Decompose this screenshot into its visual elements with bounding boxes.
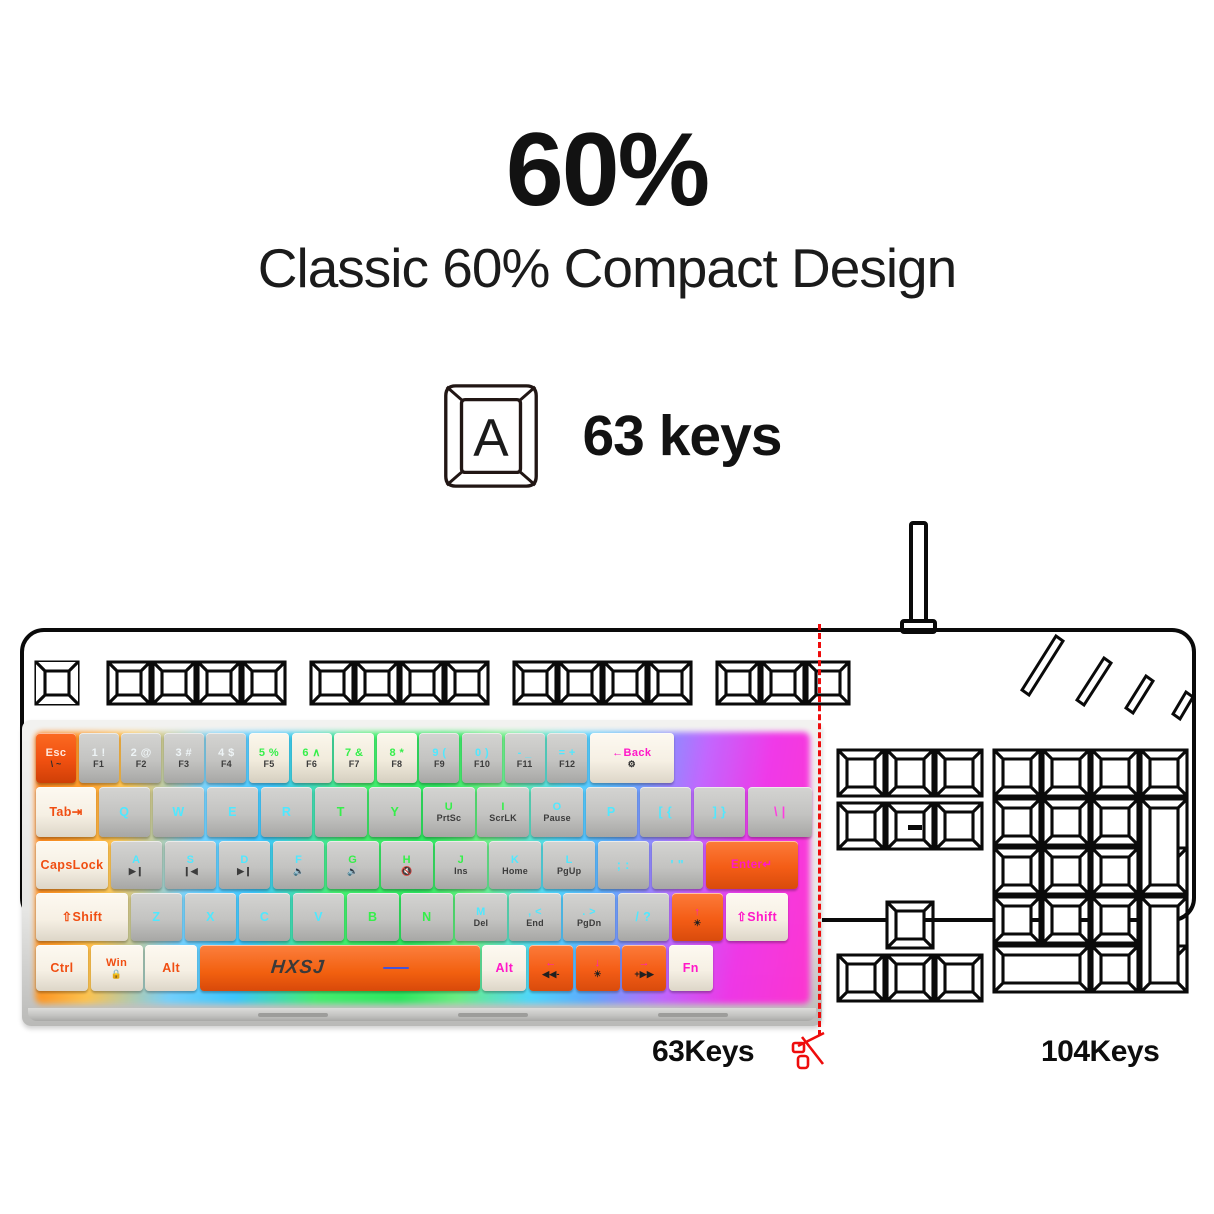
keycap-a-icon: A xyxy=(432,378,550,494)
key-shift-right[interactable]: ⇧Shift xyxy=(726,893,788,941)
outline-key xyxy=(311,662,353,704)
key-alt-right[interactable]: Alt xyxy=(482,945,526,991)
numpad-minus-glyph xyxy=(908,825,922,830)
key-4[interactable]: 4 $F4 xyxy=(206,733,246,783)
key-1[interactable]: 1 !F1 xyxy=(79,733,119,783)
key-legend-primary: ] } xyxy=(713,805,727,819)
outline-key xyxy=(807,662,849,704)
key-legend-primary: Win xyxy=(106,957,127,969)
key-comma[interactable]: , <End xyxy=(509,893,561,941)
key-legend-primary: 5 % xyxy=(259,747,279,759)
key-legend-primary: 7 & xyxy=(345,747,363,759)
key-backspace[interactable]: ←Back⚙ xyxy=(590,733,674,783)
key-legend-secondary: Ins xyxy=(454,866,468,876)
key-legend-primary: ' " xyxy=(671,858,685,872)
key-tab[interactable]: Tab⇥ xyxy=(36,787,96,837)
key-legend-secondary: Del xyxy=(474,918,489,928)
outline-key xyxy=(604,662,646,704)
key-0[interactable]: 0 )F10 xyxy=(462,733,502,783)
outline-key xyxy=(887,902,933,948)
outline-key xyxy=(994,848,1040,894)
key-o[interactable]: OPause xyxy=(531,787,583,837)
key-legend-secondary: F11 xyxy=(517,759,533,769)
key-esc[interactable]: Esc\ ~ xyxy=(36,733,76,783)
outline-key xyxy=(1043,848,1089,894)
key-legend-secondary: PgUp xyxy=(557,866,581,876)
outline-key xyxy=(838,803,884,849)
outline-key xyxy=(1092,848,1138,894)
key-legend-secondary: ☀ xyxy=(593,969,601,979)
key-legend-secondary: 🔇 xyxy=(401,866,412,876)
key-minus[interactable]: - _F11 xyxy=(505,733,545,783)
key-legend-primary: → xyxy=(638,957,649,969)
key-legend-primary: ← xyxy=(545,957,556,969)
key-legend-primary: J xyxy=(458,854,465,866)
keyboard-front-lip xyxy=(28,1008,816,1021)
key-legend-secondary: PgDn xyxy=(577,918,601,928)
key-y[interactable]: Y xyxy=(369,787,421,837)
key-legend-primary: C xyxy=(260,910,269,924)
outline-key xyxy=(649,662,691,704)
key-alt-left[interactable]: Alt xyxy=(145,945,197,991)
key-legend-primary: 3 # xyxy=(176,747,193,759)
key-legend-secondary: +▶▶ xyxy=(634,969,654,979)
key-legend-primary: H xyxy=(403,854,411,866)
key-t[interactable]: T xyxy=(315,787,367,837)
key-legend-secondary: ▶❙ xyxy=(237,866,252,876)
outline-key xyxy=(1043,750,1089,796)
key-legend-secondary: F9 xyxy=(434,759,445,769)
key-legend-primary: D xyxy=(240,854,248,866)
key-arrow-down[interactable]: ↓☀ xyxy=(576,945,620,991)
key-legend-secondary: F3 xyxy=(178,759,189,769)
key-v[interactable]: V xyxy=(293,893,345,941)
key-legend-secondary: ▶❙ xyxy=(129,866,144,876)
key-fn[interactable]: Fn xyxy=(669,945,713,991)
key-w[interactable]: W xyxy=(153,787,205,837)
outline-key xyxy=(559,662,601,704)
key-legend-secondary: F2 xyxy=(136,759,147,769)
key-legend-secondary: F5 xyxy=(264,759,275,769)
outline-key xyxy=(838,955,884,1001)
key-legend-secondary: F1 xyxy=(93,759,104,769)
outline-key xyxy=(356,662,398,704)
key-space[interactable]: HXSJ xyxy=(200,945,480,991)
key-legend-primary: 9 ( xyxy=(432,747,446,759)
key-d[interactable]: D▶❙ xyxy=(219,841,271,889)
key-legend-primary: Tab⇥ xyxy=(49,805,82,819)
key-legend-primary: Enter↵ xyxy=(731,859,772,872)
key-legend-secondary: 🔉 xyxy=(293,866,304,876)
key-legend-primary: V xyxy=(314,910,323,924)
key-legend-primary: B xyxy=(368,910,377,924)
key-capslock[interactable]: CapsLock xyxy=(36,841,108,889)
key-legend-primary: G xyxy=(348,854,357,866)
key-legend-primary: U xyxy=(445,801,453,813)
key-legend-primary: S xyxy=(187,854,195,866)
key-legend-primary: E xyxy=(228,805,237,819)
key-legend-primary: X xyxy=(206,910,215,924)
key-b[interactable]: B xyxy=(347,893,399,941)
key-p[interactable]: P xyxy=(586,787,638,837)
key-legend-primary: Q xyxy=(119,805,129,819)
key-legend-primary: Alt xyxy=(495,961,513,975)
key-legend-secondary: \ ~ xyxy=(51,759,62,769)
label-63-keys: 63Keys xyxy=(652,1035,754,1069)
key-f[interactable]: F🔉 xyxy=(273,841,325,889)
key-legend-primary: ⇧Shift xyxy=(62,910,103,924)
key-field: Esc\ ~1 !F12 @F23 #F34 $F45 %F56 ∧F67 &F… xyxy=(36,733,809,1001)
spacebar-dash xyxy=(383,967,409,970)
outline-key xyxy=(994,799,1040,845)
key-legend-primary: P xyxy=(607,805,616,819)
outline-key xyxy=(936,803,982,849)
key-count-badge: A 63 keys xyxy=(0,378,1214,494)
key-legend-primary: I xyxy=(501,801,504,813)
key-7[interactable]: 7 &F7 xyxy=(334,733,374,783)
keycap-letter: A xyxy=(474,409,510,468)
key-6[interactable]: 6 ∧F6 xyxy=(292,733,332,783)
key-legend-primary: F xyxy=(295,854,302,866)
key-legend-primary: Alt xyxy=(162,961,180,975)
key-legend-primary: K xyxy=(511,854,519,866)
key-a[interactable]: A▶❙ xyxy=(111,841,163,889)
key-legend-secondary: PrtSc xyxy=(437,813,462,823)
key-l[interactable]: LPgUp xyxy=(543,841,595,889)
key-arrow-right[interactable]: →+▶▶ xyxy=(622,945,666,991)
outline-key xyxy=(887,750,933,796)
page-subheadline: Classic 60% Compact Design xyxy=(0,238,1214,299)
key-win[interactable]: Win🔒 xyxy=(91,945,143,991)
outline-key xyxy=(1092,750,1138,796)
outline-key xyxy=(153,662,195,704)
key-z[interactable]: Z xyxy=(131,893,183,941)
key-legend-secondary: F6 xyxy=(306,759,317,769)
key-legend-primary: L xyxy=(566,854,573,866)
key-legend-secondary: ☀ xyxy=(693,918,701,928)
key-legend-primary: Z xyxy=(152,910,160,924)
key-3[interactable]: 3 #F3 xyxy=(164,733,204,783)
key-legend-secondary: F8 xyxy=(391,759,402,769)
key-legend-primary: Esc xyxy=(46,747,67,759)
outline-key xyxy=(1141,750,1187,796)
outline-key xyxy=(1092,799,1138,845)
page-headline: 60% xyxy=(0,118,1214,222)
key-c[interactable]: C xyxy=(239,893,291,941)
outline-key xyxy=(936,955,982,1001)
key-legend-primary: ; : xyxy=(617,858,630,872)
outline-key xyxy=(401,662,443,704)
key-2[interactable]: 2 @F2 xyxy=(121,733,161,783)
key-period[interactable]: . >PgDn xyxy=(563,893,615,941)
key-legend-primary: ↑ xyxy=(694,906,700,918)
key-enter[interactable]: Enter↵ xyxy=(706,841,798,889)
key-legend-primary: R xyxy=(282,805,291,819)
key-arrow-up[interactable]: ↑☀ xyxy=(672,893,724,941)
key-count-label: 63 keys xyxy=(582,403,781,469)
cut-line xyxy=(818,624,821,1036)
key-legend-secondary: 🔊 xyxy=(347,866,358,876)
brand-logo: HXSJ xyxy=(270,957,326,978)
outline-key xyxy=(936,750,982,796)
key-legend-primary: , < xyxy=(528,906,542,918)
outline-key xyxy=(108,662,150,704)
key-legend-primary: O xyxy=(553,801,562,813)
key-legend-secondary: ScrLK xyxy=(489,813,517,823)
outline-key xyxy=(994,750,1040,796)
outline-key xyxy=(762,662,804,704)
key-legend-primary: \ | xyxy=(774,805,786,819)
key-legend-primary: 2 @ xyxy=(131,747,152,759)
key-legend-primary: CapsLock xyxy=(41,858,104,872)
key-k[interactable]: KHome xyxy=(489,841,541,889)
key-legend-primary: 4 $ xyxy=(218,747,235,759)
key-m[interactable]: MDel xyxy=(455,893,507,941)
key-ctrl[interactable]: Ctrl xyxy=(36,945,88,991)
outline-key xyxy=(717,662,759,704)
key-legend-secondary: F4 xyxy=(221,759,232,769)
key-legend-primary: Ctrl xyxy=(50,961,73,975)
key-legend-secondary: Home xyxy=(502,866,528,876)
key-u[interactable]: UPrtSc xyxy=(423,787,475,837)
key-legend-primary: Fn xyxy=(683,961,699,975)
key-legend-primary: / ? xyxy=(635,910,651,924)
photo-keyboard-63: Esc\ ~1 !F12 @F23 #F34 $F45 %F56 ∧F67 &F… xyxy=(22,720,822,1030)
outline-key xyxy=(243,662,285,704)
key-legend-secondary: ❙◀ xyxy=(183,866,198,876)
key-8[interactable]: 8 *F8 xyxy=(377,733,417,783)
key-semicolon[interactable]: ; : xyxy=(598,841,650,889)
key-backslash[interactable]: \ | xyxy=(748,787,812,837)
key-legend-primary: . > xyxy=(582,906,596,918)
key-legend-secondary: F12 xyxy=(559,759,575,769)
key-legend-primary: Y xyxy=(390,805,399,819)
key-slash[interactable]: / ? xyxy=(618,893,670,941)
outline-key xyxy=(514,662,556,704)
outline-key xyxy=(198,662,240,704)
key-q[interactable]: Q xyxy=(99,787,151,837)
key-i[interactable]: IScrLK xyxy=(477,787,529,837)
key-legend-primary: ↓ xyxy=(595,957,601,969)
key-legend-secondary: F10 xyxy=(474,759,490,769)
key-legend-secondary: Pause xyxy=(543,813,571,823)
key-legend-secondary: End xyxy=(526,918,544,928)
key-j[interactable]: JIns xyxy=(435,841,487,889)
led-indicator-icons xyxy=(1022,636,1193,719)
key-9[interactable]: 9 (F9 xyxy=(419,733,459,783)
key-legend-primary: N xyxy=(422,910,431,924)
outline-key xyxy=(838,750,884,796)
key-legend-primary: 6 ∧ xyxy=(302,747,320,759)
key-bracket-left[interactable]: [ { xyxy=(640,787,692,837)
key-legend-primary: 1 ! xyxy=(92,747,106,759)
key-n[interactable]: N xyxy=(401,893,453,941)
key-legend-primary: 0 ) xyxy=(475,747,489,759)
key-g[interactable]: G🔊 xyxy=(327,841,379,889)
key-legend-primary: - _ xyxy=(518,747,532,759)
key-s[interactable]: S❙◀ xyxy=(165,841,217,889)
key-h[interactable]: H🔇 xyxy=(381,841,433,889)
key-legend-secondary: 🔒 xyxy=(111,969,122,979)
key-shift-left[interactable]: ⇧Shift xyxy=(36,893,128,941)
outline-key xyxy=(994,946,1089,992)
scissors-icon xyxy=(790,1028,836,1076)
key-5[interactable]: 5 %F5 xyxy=(249,733,289,783)
key-legend-primary: = + xyxy=(559,747,576,759)
outline-key xyxy=(446,662,488,704)
key-legend-primary: ⇧Shift xyxy=(736,910,777,924)
key-legend-primary: W xyxy=(172,805,184,819)
outline-key xyxy=(887,955,933,1001)
key-legend-secondary: ⚙ xyxy=(628,759,636,769)
key-equal[interactable]: = +F12 xyxy=(547,733,587,783)
key-legend-primary: M xyxy=(476,906,486,918)
key-bracket-right[interactable]: ] } xyxy=(694,787,746,837)
outline-key xyxy=(1043,799,1089,845)
key-x[interactable]: X xyxy=(185,893,237,941)
key-e[interactable]: E xyxy=(207,787,259,837)
key-legend-secondary: ◀◀- xyxy=(542,969,559,979)
outline-key xyxy=(1092,946,1138,992)
label-104-keys: 104Keys xyxy=(1041,1035,1159,1069)
key-legend-primary: A xyxy=(132,854,140,866)
key-legend-primary: [ { xyxy=(658,805,672,819)
key-r[interactable]: R xyxy=(261,787,313,837)
key-quote[interactable]: ' " xyxy=(652,841,704,889)
key-legend-primary: T xyxy=(337,805,345,819)
key-arrow-left[interactable]: ←◀◀- xyxy=(529,945,573,991)
key-legend-secondary: F7 xyxy=(349,759,360,769)
key-legend-primary: ←Back xyxy=(612,747,651,759)
key-legend-primary: 8 * xyxy=(389,747,404,759)
